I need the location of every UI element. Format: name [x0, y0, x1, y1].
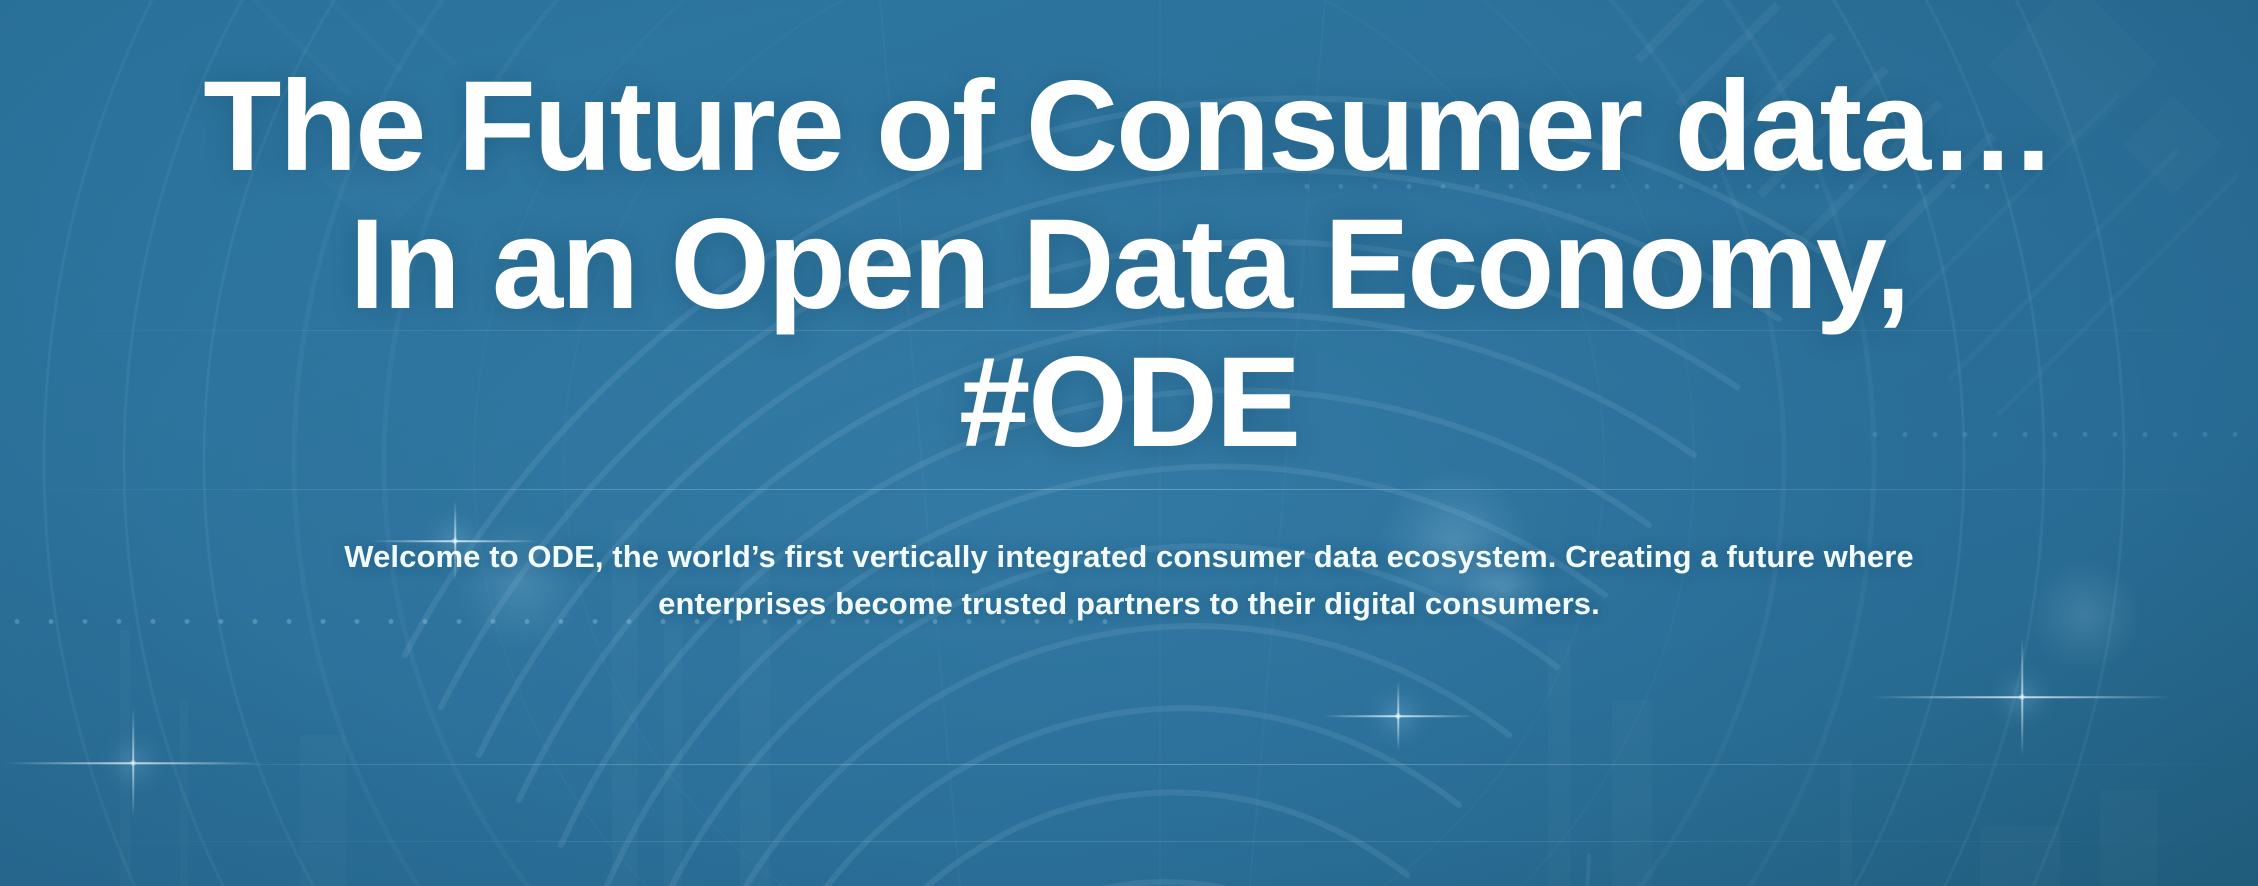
- hero-banner: The Future of Consumer data… In an Open …: [0, 0, 2258, 886]
- hero-title-line-2: In an Open Data Economy,: [34, 196, 2224, 334]
- hero-title-line-1: The Future of Consumer data…: [34, 58, 2224, 196]
- hero-subtitle: Welcome to ODE, the world’s first vertic…: [264, 533, 1994, 627]
- hero-content: The Future of Consumer data… In an Open …: [0, 0, 2258, 886]
- hero-title-line-3: #ODE: [34, 334, 2224, 472]
- hero-title: The Future of Consumer data… In an Open …: [34, 58, 2224, 473]
